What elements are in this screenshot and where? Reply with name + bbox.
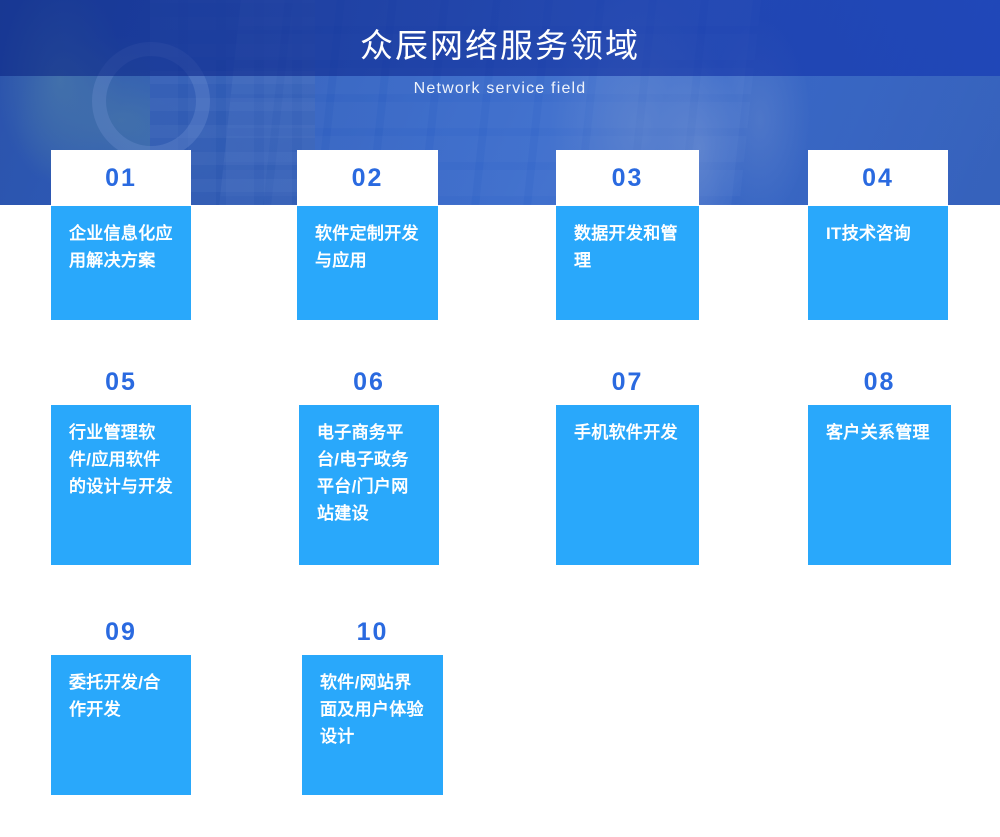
card-body: 软件/网站界面及用户体验设计: [302, 655, 443, 795]
card-number-plate: 07: [556, 360, 699, 405]
service-card[interactable]: 09 委托开发/合作开发: [51, 610, 191, 795]
card-number: 04: [862, 166, 894, 191]
card-body: 软件定制开发与应用: [297, 206, 438, 320]
card-body: 企业信息化应用解决方案: [51, 206, 191, 320]
card-number-plate: 02: [297, 150, 438, 206]
service-card[interactable]: 04 IT技术咨询: [808, 150, 948, 320]
card-number-plate: 06: [299, 360, 439, 405]
card-body: 手机软件开发: [556, 405, 699, 565]
service-card[interactable]: 07 手机软件开发: [556, 360, 699, 565]
card-number-plate: 04: [808, 150, 948, 206]
card-number-plate: 03: [556, 150, 699, 206]
service-card[interactable]: 08 客户关系管理: [808, 360, 951, 565]
card-number-plate: 01: [51, 150, 191, 206]
card-label: 数据开发和管理: [556, 206, 699, 274]
card-number: 09: [105, 620, 137, 645]
service-card[interactable]: 10 软件/网站界面及用户体验设计: [302, 610, 443, 795]
card-body: IT技术咨询: [808, 206, 948, 320]
card-number-plate: 08: [808, 360, 951, 405]
card-body: 数据开发和管理: [556, 206, 699, 320]
card-label: IT技术咨询: [808, 206, 948, 247]
service-field-infographic: 众辰网络服务领域 Network service field 01 企业信息化应…: [0, 0, 1000, 837]
card-number: 10: [357, 620, 389, 645]
service-card[interactable]: 01 企业信息化应用解决方案: [51, 150, 191, 320]
card-number: 07: [612, 370, 644, 395]
card-number: 08: [864, 370, 896, 395]
card-label: 企业信息化应用解决方案: [51, 206, 191, 274]
card-body: 行业管理软件/应用软件的设计与开发: [51, 405, 191, 565]
card-label: 行业管理软件/应用软件的设计与开发: [51, 405, 191, 500]
card-label: 手机软件开发: [556, 405, 699, 446]
card-body: 电子商务平台/电子政务平台/门户网站建设: [299, 405, 439, 565]
service-card[interactable]: 02 软件定制开发与应用: [297, 150, 438, 320]
card-label: 软件/网站界面及用户体验设计: [302, 655, 443, 750]
card-body: 委托开发/合作开发: [51, 655, 191, 795]
card-number-plate: 09: [51, 610, 191, 655]
card-number-plate: 05: [51, 360, 191, 405]
card-number: 05: [105, 370, 137, 395]
card-label: 电子商务平台/电子政务平台/门户网站建设: [299, 405, 439, 527]
page-title: 众辰网络服务领域: [0, 24, 1000, 68]
service-card[interactable]: 03 数据开发和管理: [556, 150, 699, 320]
card-number: 06: [353, 370, 385, 395]
card-number-plate: 10: [302, 610, 443, 655]
card-label: 委托开发/合作开发: [51, 655, 191, 723]
page-subtitle: Network service field: [0, 78, 1000, 100]
card-label: 软件定制开发与应用: [297, 206, 438, 274]
service-card[interactable]: 05 行业管理软件/应用软件的设计与开发: [51, 360, 191, 565]
card-label: 客户关系管理: [808, 405, 951, 446]
card-number: 03: [612, 166, 644, 191]
card-number: 01: [105, 166, 137, 191]
service-card[interactable]: 06 电子商务平台/电子政务平台/门户网站建设: [299, 360, 439, 565]
card-body: 客户关系管理: [808, 405, 951, 565]
card-number: 02: [352, 166, 384, 191]
